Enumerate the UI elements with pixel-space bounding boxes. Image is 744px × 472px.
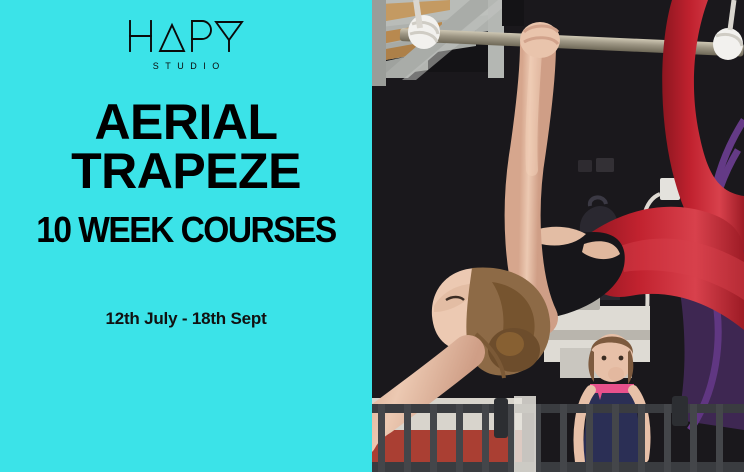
promo-poster: STUDIO AERIAL TRAPEZE 10 WEEK COURSES 12… <box>0 0 744 472</box>
headline-line-2: TRAPEZE <box>0 147 372 196</box>
course-dates: 12th July - 18th Sept <box>0 309 372 329</box>
brand-logo: STUDIO <box>0 18 372 71</box>
brand-tagline: STUDIO <box>0 61 372 71</box>
hapy-wordmark-logo <box>128 18 244 54</box>
page-title: AERIAL TRAPEZE <box>0 98 372 196</box>
headline-line-1: AERIAL <box>0 98 372 147</box>
text-panel: STUDIO AERIAL TRAPEZE 10 WEEK COURSES 12… <box>0 0 372 472</box>
subheadline: 10 WEEK COURSES <box>13 212 359 248</box>
hero-photo <box>372 0 744 472</box>
gripping-hand <box>520 22 560 58</box>
rope-wrap-right <box>713 28 743 60</box>
rope-wrap-left <box>408 15 440 49</box>
